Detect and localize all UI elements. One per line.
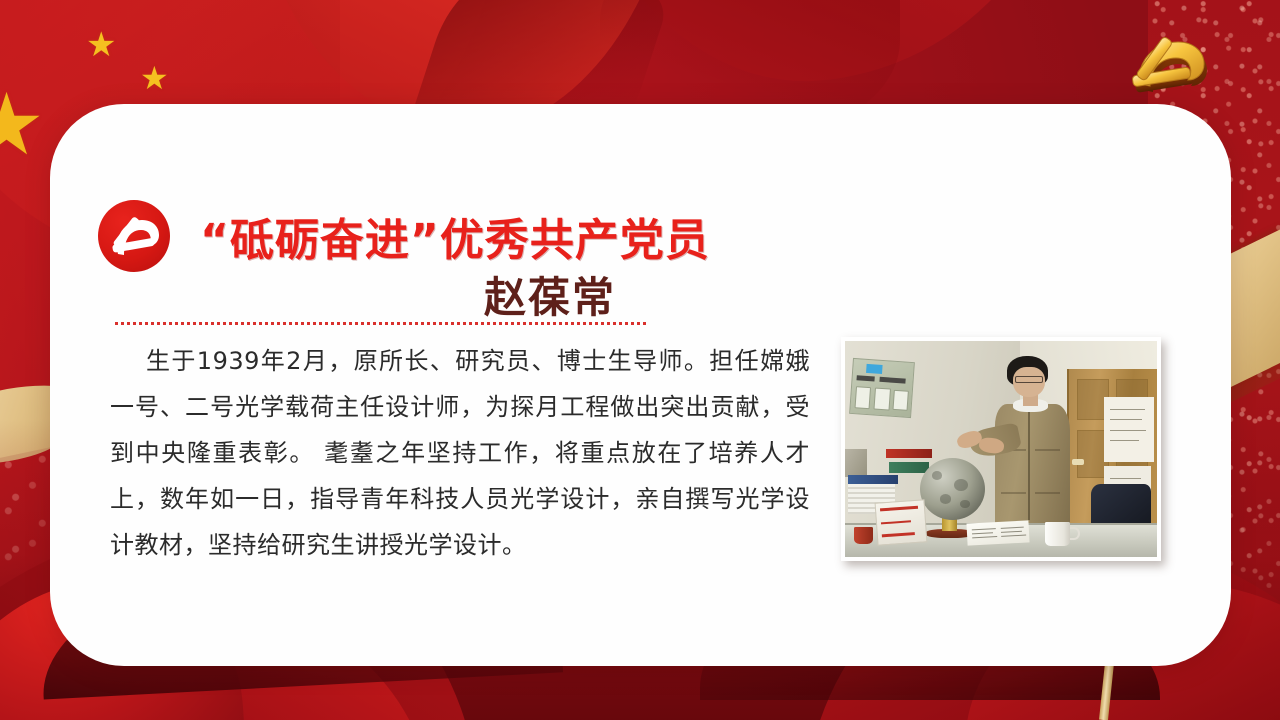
photo-note-line: [972, 533, 993, 535]
card-clip: “砥砺奋进”优秀共产党员 赵葆常 生于1939年2月，原所长、研究员、博士生导师…: [50, 104, 1231, 666]
photo-person-glasses: [1015, 376, 1043, 383]
photo-book-green: [889, 462, 930, 473]
photo-jacket-pocket: [1035, 492, 1060, 494]
photo-socket: [874, 388, 891, 411]
flag-star-large-icon: ★: [0, 82, 45, 168]
photo-socket: [893, 390, 909, 410]
photo-note-line: [972, 537, 997, 539]
biography-paragraph: 生于1939年2月，原所长、研究员、博士生导师。担任嫦娥一号、二号光学载荷主任设…: [110, 338, 810, 568]
photo-jacket-seam: [1028, 408, 1030, 520]
person-photo: [841, 337, 1161, 561]
photo-socket: [854, 387, 871, 410]
hammer-and-sickle-icon: [1120, 22, 1216, 110]
photo-globe-stand: [942, 518, 958, 531]
photo-red-cup: [854, 527, 873, 544]
photo-calendar-band: [880, 506, 918, 512]
photo-paper-line: [1110, 478, 1142, 479]
photo-jacket-pocket: [1001, 492, 1026, 494]
divider: [115, 322, 647, 325]
photo-shelf: [845, 449, 867, 477]
person-name: 赵葆常: [200, 264, 900, 325]
photo-globe-crater: [932, 471, 942, 480]
flag-star-small-1-icon: ★: [86, 28, 116, 62]
photo-note-line: [1000, 531, 1021, 533]
photo-wall-paper-1: [1104, 397, 1154, 462]
photo-outlet-label: [879, 377, 906, 383]
flag-star-small-2-icon: ★: [140, 62, 169, 94]
photo-globe-crater: [954, 479, 968, 492]
photo-calendar-band: [882, 532, 916, 537]
photo-calendar-band: [881, 520, 911, 525]
photo-content: [845, 341, 1157, 557]
photo-note-line: [971, 528, 995, 530]
photo-globe-model: [920, 458, 986, 521]
slide-root: ★ ★ ★ ★ ★: [0, 0, 1280, 720]
photo-globe-crater: [960, 500, 969, 508]
photo-door-handle: [1072, 459, 1084, 465]
photo-outlet-indicator: [867, 365, 883, 375]
photo-note-line: [1000, 527, 1024, 529]
photo-white-mug: [1045, 522, 1070, 546]
photo-book-blue: [848, 475, 898, 484]
photo-paper-line: [1110, 430, 1146, 431]
photo-paper-line: [1110, 409, 1145, 410]
photo-open-notebook: [966, 521, 1029, 546]
photo-book-red: [886, 449, 933, 458]
photo-globe-crater: [940, 494, 952, 504]
photo-jacket-pocket: [1035, 449, 1060, 451]
content-card: “砥砺奋进”优秀共产党员 赵葆常 生于1939年2月，原所长、研究员、博士生导师…: [50, 104, 1231, 666]
photo-wall-outlet-plate: [849, 358, 915, 418]
page-title: “砥砺奋进”优秀共产党员: [200, 204, 900, 268]
photo-paper-line: [1110, 440, 1139, 441]
photo-outlet-label: [856, 376, 874, 382]
photo-desk-calendar: [875, 499, 928, 546]
photo-note-line: [1001, 535, 1026, 537]
photo-paper-line: [1110, 419, 1142, 420]
party-badge: [98, 200, 170, 272]
